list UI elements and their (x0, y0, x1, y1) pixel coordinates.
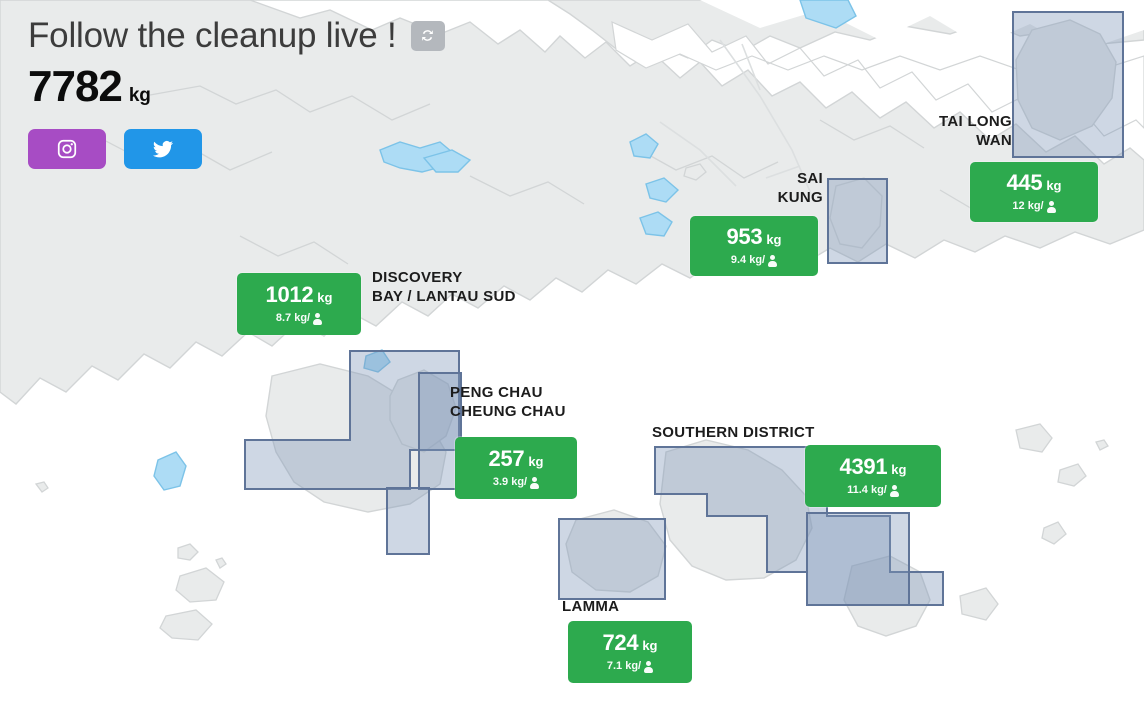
region-label-southern-district: SOUTHERN DISTRICT (652, 424, 892, 443)
badge-kg-value: 445 (1007, 172, 1043, 194)
badge-kg-unit: kg (891, 463, 906, 476)
region-label-line1: TAI LONG (852, 113, 1012, 132)
badge-kg-value: 953 (727, 226, 763, 248)
region-box-sai-kung[interactable] (827, 178, 888, 264)
badge-kg-unit: kg (317, 291, 332, 304)
badge-southern-district[interactable]: 4391 kg 11.4 kg/ (805, 445, 941, 507)
badge-per-person-row: 7.1 kg/ (607, 661, 653, 672)
badge-sai-kung[interactable]: 953 kg 9.4 kg/ (690, 216, 818, 276)
badge-per-person-row: 8.7 kg/ (276, 313, 322, 324)
total-weight-value: 7782 (28, 65, 122, 109)
badge-kg-unit: kg (528, 455, 543, 468)
badge-kg-row: 1012 kg (266, 284, 333, 306)
badge-kg-row: 724 kg (603, 632, 658, 654)
badge-per-person-value: 8.7 kg/ (276, 313, 310, 324)
badge-kg-value: 4391 (840, 456, 888, 478)
badge-kg-row: 953 kg (727, 226, 782, 248)
region-label-line2: KUNG (667, 189, 823, 208)
badge-per-person-row: 3.9 kg/ (493, 477, 539, 488)
total-weight-unit: kg (129, 85, 151, 107)
region-label-discovery-bay: DISCOVERY BAY / LANTAU SUD (372, 269, 622, 307)
region-label-line1: SAI (667, 170, 823, 189)
region-box-tai-long-wan[interactable] (1012, 11, 1124, 158)
refresh-glyph (419, 27, 436, 44)
badge-peng-chau-cheung-chau[interactable]: 257 kg 3.9 kg/ (455, 437, 577, 499)
social-links (28, 129, 445, 169)
badge-kg-value: 1012 (266, 284, 314, 306)
badge-kg-row: 257 kg (489, 448, 544, 470)
badge-kg-value: 724 (603, 632, 639, 654)
cleanup-live-map-page: TAI LONG WAN SAI KUNG DISCOVERY BAY / LA… (0, 0, 1144, 720)
region-label-line1: LAMMA (562, 598, 722, 617)
total-weight-row: 7782 kg (28, 65, 445, 109)
badge-discovery-bay[interactable]: 1012 kg 8.7 kg/ (237, 273, 361, 335)
region-label-line1: PENG CHAU (450, 384, 650, 403)
header: Follow the cleanup live ! 7782 kg (28, 18, 445, 169)
badge-kg-row: 445 kg (1007, 172, 1062, 194)
region-label-sai-kung: SAI KUNG (667, 170, 823, 208)
badge-kg-value: 257 (489, 448, 525, 470)
person-icon (890, 485, 899, 496)
badge-per-person-row: 11.4 kg/ (847, 485, 899, 496)
badge-per-person-value: 7.1 kg/ (607, 661, 641, 672)
badge-per-person-value: 3.9 kg/ (493, 477, 527, 488)
person-icon (1047, 201, 1056, 212)
badge-tai-long-wan[interactable]: 445 kg 12 kg/ (970, 162, 1098, 222)
badge-kg-unit: kg (642, 639, 657, 652)
region-label-lamma: LAMMA (562, 598, 722, 617)
page-title-row: Follow the cleanup live ! (28, 18, 445, 53)
badge-kg-unit: kg (1046, 179, 1061, 192)
region-label-line1: DISCOVERY (372, 269, 622, 288)
region-label-line2: BAY / LANTAU SUD (372, 288, 622, 307)
region-label-tai-long-wan: TAI LONG WAN (852, 113, 1012, 151)
instagram-glyph (56, 138, 78, 160)
badge-per-person-value: 12 kg/ (1012, 201, 1043, 212)
badge-lamma[interactable]: 724 kg 7.1 kg/ (568, 621, 692, 683)
region-label-peng-chau-cheung-chau: PENG CHAU CHEUNG CHAU (450, 384, 650, 422)
badge-per-person-row: 12 kg/ (1012, 201, 1055, 212)
region-label-line2: CHEUNG CHAU (450, 403, 650, 422)
person-icon (768, 255, 777, 266)
refresh-icon[interactable] (411, 21, 445, 51)
badge-per-person-value: 11.4 kg/ (847, 485, 887, 496)
person-icon (313, 313, 322, 324)
badge-per-person-value: 9.4 kg/ (731, 255, 765, 266)
region-box-lamma[interactable] (558, 518, 666, 600)
region-box-southern-district-lower[interactable] (806, 512, 910, 606)
badge-per-person-row: 9.4 kg/ (731, 255, 777, 266)
badge-kg-row: 4391 kg (840, 456, 907, 478)
page-title: Follow the cleanup live ! (28, 18, 397, 53)
person-icon (644, 661, 653, 672)
badge-kg-unit: kg (766, 233, 781, 246)
twitter-icon[interactable] (124, 129, 202, 169)
region-box-cheung-chau[interactable] (386, 487, 430, 555)
person-icon (530, 477, 539, 488)
region-label-line2: WAN (852, 132, 1012, 151)
instagram-icon[interactable] (28, 129, 106, 169)
twitter-glyph (151, 137, 175, 161)
region-label-line1: SOUTHERN DISTRICT (652, 424, 892, 443)
